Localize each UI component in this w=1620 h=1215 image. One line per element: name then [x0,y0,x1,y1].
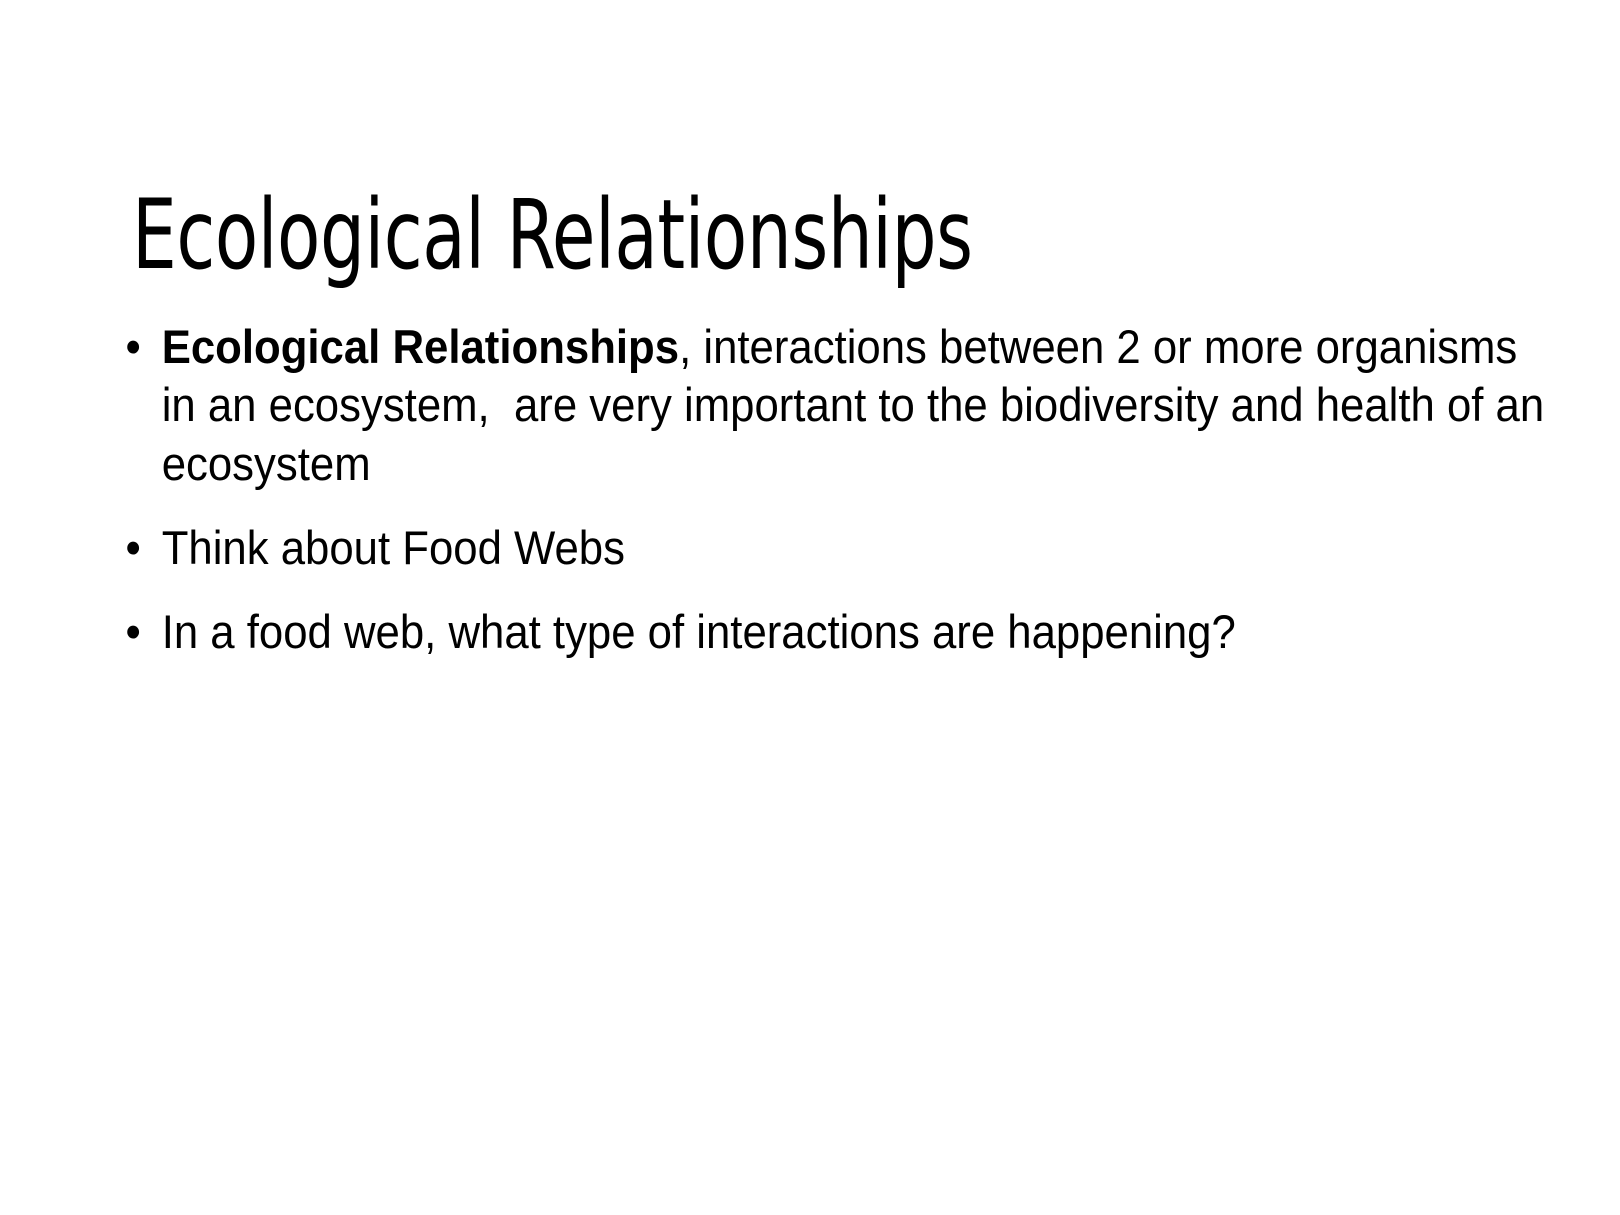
page-title: Ecological Relationships [132,182,1247,290]
list-item-body: Think about Food Webs [162,521,625,574]
list-item-text: Ecological Relationships, interactions b… [162,320,1557,490]
list-item[interactable]: • Ecological Relationships, interactions… [118,318,1547,493]
list-item-emphasis: Ecological Relationships [162,320,679,373]
bullet-list: • Ecological Relationships, interactions… [118,318,1518,661]
list-item-body: In a food web, what type of interactions… [162,605,1236,658]
presentation-slide: Ecological Relationships • Ecological Re… [0,0,1620,1215]
list-item-text: In a food web, what type of interactions… [162,605,1236,658]
bullet-point-icon: • [125,603,140,661]
list-item[interactable]: • In a food web, what type of interactio… [118,603,1547,661]
bullet-point-icon: • [125,519,140,577]
list-item[interactable]: • Think about Food Webs [118,519,1547,577]
list-item-text: Think about Food Webs [162,521,625,574]
bullet-point-icon: • [125,318,140,376]
